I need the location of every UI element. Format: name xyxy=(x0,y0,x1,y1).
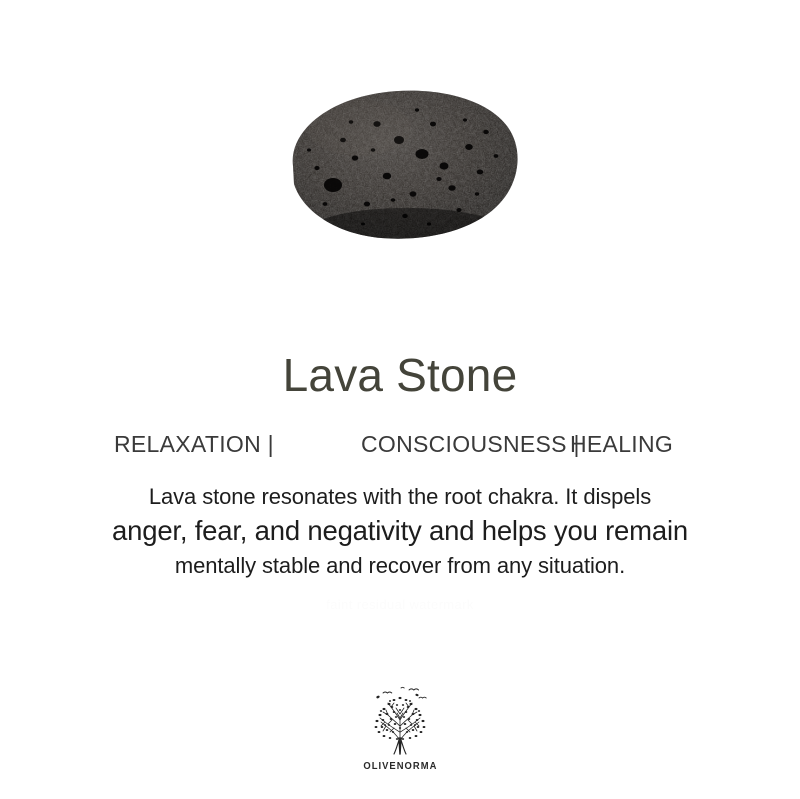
keyword-relaxation: RELAXATION | xyxy=(114,430,274,458)
product-image xyxy=(0,0,800,300)
ghost-watermark-text: faint residual watermark xyxy=(0,596,800,614)
keyword-row: RELAXATION | CONSCIOUSNESS | HEALING xyxy=(0,430,800,458)
page-title: Lava Stone xyxy=(0,347,800,403)
tree-icon xyxy=(361,684,439,758)
brand-name: OLIVENORMA xyxy=(363,761,437,772)
lava-stone-illustration xyxy=(281,84,525,244)
keyword-consciousness: CONSCIOUSNESS | xyxy=(361,430,580,458)
description-line-2: anger, fear, and negativity and helps yo… xyxy=(0,512,800,550)
keyword-healing: HEALING xyxy=(570,430,673,458)
description-line-1: Lava stone resonates with the root chakr… xyxy=(0,482,800,512)
description-block: Lava stone resonates with the root chakr… xyxy=(0,482,800,582)
description-line-3: mentally stable and recover from any sit… xyxy=(0,550,800,582)
product-info-card: Lava Stone RELAXATION | CONSCIOUSNESS | … xyxy=(0,0,800,799)
brand-logo: OLIVENORMA xyxy=(0,684,800,772)
